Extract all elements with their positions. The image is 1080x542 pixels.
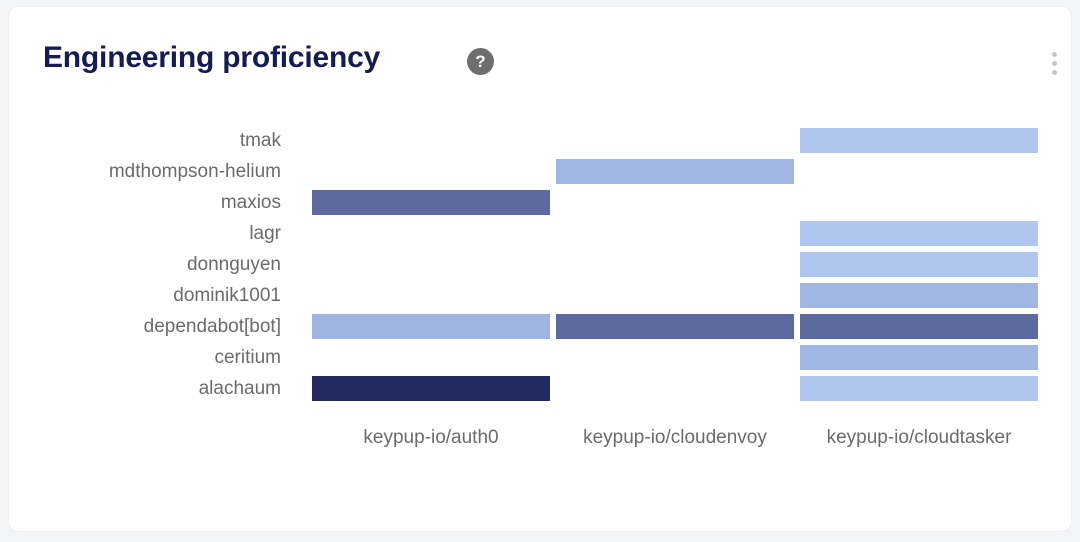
- heatmap-cell-empty: [312, 345, 550, 370]
- heatmap-column-label: keypup-io/cloudenvoy: [556, 423, 794, 452]
- kebab-dot-1: [1052, 52, 1057, 57]
- heatmap-cell-empty: [312, 283, 550, 308]
- heatmap-cell-slot: [800, 249, 1038, 280]
- heatmap-cell-slot: [556, 218, 794, 249]
- heatmap-grid: [312, 125, 1039, 404]
- engineering-proficiency-card: Engineering proficiency ? tmakmdthompson…: [8, 6, 1072, 532]
- heatmap-column-labels: keypup-io/auth0keypup-io/cloudenvoykeypu…: [312, 423, 1039, 452]
- heatmap-row-label: tmak: [9, 125, 281, 156]
- heatmap-cell-slot: [312, 311, 550, 342]
- heatmap-cell-slot: [556, 373, 794, 404]
- heatmap-cell-slot: [556, 342, 794, 373]
- heatmap-row-label: ceritium: [9, 342, 281, 373]
- heatmap-row-label: lagr: [9, 218, 281, 249]
- heatmap-cell-slot: [312, 156, 550, 187]
- heatmap-cell[interactable]: [800, 314, 1038, 339]
- heatmap-cell-empty: [556, 283, 794, 308]
- page-title: Engineering proficiency: [43, 41, 380, 75]
- heatmap-cell-slot: [800, 311, 1038, 342]
- heatmap-column-label: keypup-io/cloudtasker: [800, 423, 1038, 452]
- heatmap-cell-empty: [800, 159, 1038, 184]
- heatmap-cell-empty: [556, 221, 794, 246]
- heatmap-cell-slot: [800, 125, 1038, 156]
- heatmap-row-label: dependabot[bot]: [9, 311, 281, 342]
- heatmap-cell[interactable]: [800, 221, 1038, 246]
- heatmap-cell-empty: [312, 128, 550, 153]
- heatmap-column: [556, 125, 794, 404]
- heatmap-cell-empty: [556, 190, 794, 215]
- heatmap-row-label: mdthompson-helium: [9, 156, 281, 187]
- heatmap-cell[interactable]: [800, 283, 1038, 308]
- heatmap-cell-empty: [556, 252, 794, 277]
- heatmap-cell-empty: [312, 159, 550, 184]
- heatmap-cell[interactable]: [312, 190, 550, 215]
- heatmap-cell-slot: [556, 187, 794, 218]
- heatmap-cell-slot: [556, 249, 794, 280]
- heatmap-cell-slot: [800, 280, 1038, 311]
- heatmap-cell[interactable]: [800, 345, 1038, 370]
- heatmap-cell[interactable]: [312, 314, 550, 339]
- heatmap-cell-slot: [556, 125, 794, 156]
- heatmap-chart: tmakmdthompson-heliummaxioslagrdonnguyen…: [9, 111, 1071, 532]
- heatmap-cell[interactable]: [800, 376, 1038, 401]
- heatmap-cell[interactable]: [556, 314, 794, 339]
- heatmap-row-label: maxios: [9, 187, 281, 218]
- heatmap-cell-slot: [312, 249, 550, 280]
- heatmap-column: [800, 125, 1038, 404]
- heatmap-cell-slot: [800, 187, 1038, 218]
- heatmap-cell-slot: [556, 280, 794, 311]
- heatmap-cell[interactable]: [800, 128, 1038, 153]
- heatmap-cell-empty: [556, 345, 794, 370]
- heatmap-row-label: dominik1001: [9, 280, 281, 311]
- heatmap-cell-slot: [312, 373, 550, 404]
- heatmap-cell-slot: [556, 156, 794, 187]
- heatmap-cell-empty: [556, 128, 794, 153]
- heatmap-cell-slot: [312, 280, 550, 311]
- heatmap-column: [312, 125, 550, 404]
- heatmap-row-labels: tmakmdthompson-heliummaxioslagrdonnguyen…: [9, 125, 281, 404]
- heatmap-cell-slot: [556, 311, 794, 342]
- heatmap-row-label: donnguyen: [9, 249, 281, 280]
- heatmap-cell-slot: [800, 373, 1038, 404]
- heatmap-cell-empty: [312, 221, 550, 246]
- heatmap-cell-empty: [312, 252, 550, 277]
- heatmap-cell[interactable]: [312, 376, 550, 401]
- heatmap-cell-slot: [800, 156, 1038, 187]
- heatmap-row-label: alachaum: [9, 373, 281, 404]
- heatmap-cell-slot: [312, 187, 550, 218]
- kebab-menu-icon[interactable]: [1041, 45, 1067, 81]
- heatmap-cell-empty: [556, 376, 794, 401]
- heatmap-cell-slot: [800, 342, 1038, 373]
- heatmap-cell[interactable]: [800, 252, 1038, 277]
- heatmap-cell-empty: [800, 190, 1038, 215]
- heatmap-cell-slot: [312, 342, 550, 373]
- heatmap-cell-slot: [800, 218, 1038, 249]
- question-mark-icon[interactable]: ?: [467, 48, 494, 75]
- heatmap-column-label: keypup-io/auth0: [312, 423, 550, 452]
- kebab-dot-3: [1052, 70, 1057, 75]
- heatmap-cell-slot: [312, 218, 550, 249]
- card-header: Engineering proficiency ?: [9, 7, 1071, 111]
- heatmap-cell-slot: [312, 125, 550, 156]
- heatmap-cell[interactable]: [556, 159, 794, 184]
- kebab-dot-2: [1052, 61, 1057, 66]
